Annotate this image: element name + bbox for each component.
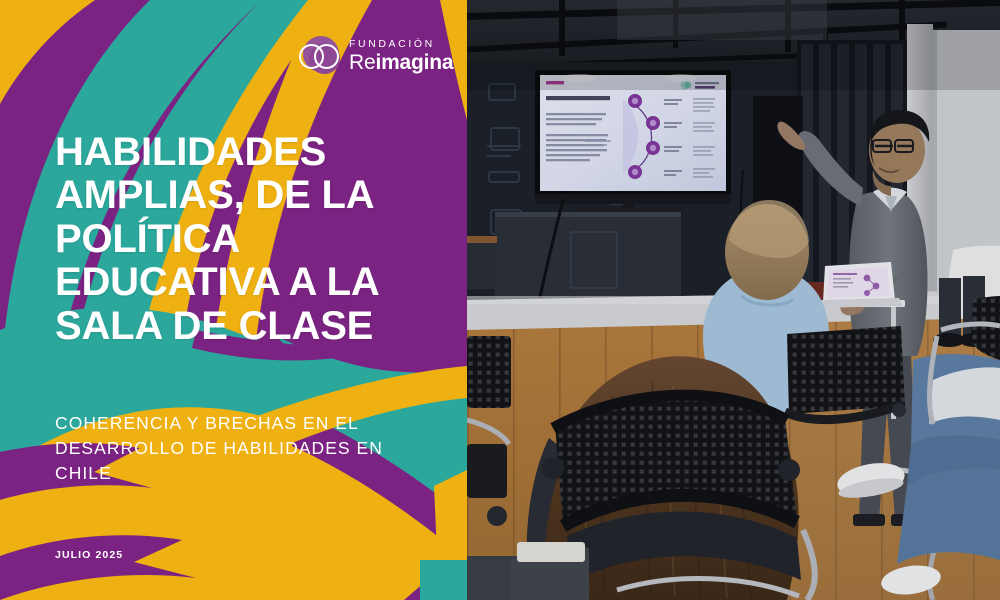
presentation-photograph bbox=[467, 0, 1000, 600]
cover-panel: FUNDACIÓN Reimagina HABILIDADES AMPLIAS,… bbox=[0, 0, 467, 600]
logo-re: Re bbox=[349, 51, 375, 74]
fundacion-reimagina-logo: FUNDACIÓN Reimagina bbox=[296, 30, 446, 82]
logo-imagina: imagina bbox=[375, 51, 453, 74]
cover-title: HABILIDADES AMPLIAS, DE LA POLÍTICA EDUC… bbox=[55, 131, 395, 348]
report-cover-composite: FUNDACIÓN Reimagina HABILIDADES AMPLIAS,… bbox=[0, 0, 1000, 600]
logo-org-line2: Reimagina bbox=[349, 52, 453, 73]
cover-publication-date: JULIO 2025 bbox=[55, 549, 123, 561]
reimagina-circles-icon bbox=[296, 33, 342, 79]
photo-illustration bbox=[467, 0, 1000, 600]
logo-org-line1: FUNDACIÓN bbox=[349, 39, 453, 50]
cover-subtitle: COHERENCIA Y BRECHAS EN EL DESARROLLO DE… bbox=[55, 411, 405, 486]
logo-wordmark: FUNDACIÓN Reimagina bbox=[349, 39, 453, 73]
photo-top-vignette bbox=[467, 0, 1000, 90]
